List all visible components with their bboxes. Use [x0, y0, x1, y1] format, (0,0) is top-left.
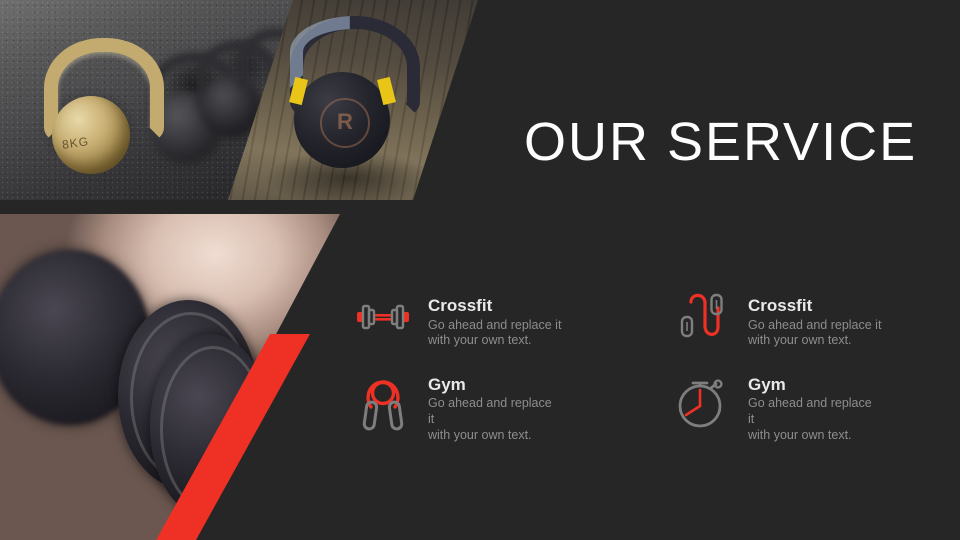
service-title: Gym [748, 375, 872, 395]
service-description: Go ahead and replace it with your own te… [428, 318, 561, 349]
service-title: Crossfit [748, 296, 881, 316]
hand-grip-icon [352, 371, 414, 433]
gold-kettlebell-ball [52, 96, 130, 174]
slide-canvas: 8KG R OUR SERVICE [0, 0, 960, 540]
service-title: Crossfit [428, 296, 561, 316]
service-item-gym-stopwatch[interactable]: Gym Go ahead and replace it with your ow… [672, 371, 944, 443]
service-text-block: Gym Go ahead and replace it with your ow… [748, 371, 872, 443]
photo-barbell-lift-image [0, 214, 340, 540]
jump-rope-icon [672, 286, 734, 348]
service-item-crossfit-dumbbell[interactable]: Crossfit Go ahead and replace it with yo… [352, 286, 624, 349]
service-text-block: Crossfit Go ahead and replace it with yo… [748, 286, 881, 349]
service-text-block: Crossfit Go ahead and replace it with yo… [428, 286, 561, 349]
service-text-block: Gym Go ahead and replace it with your ow… [428, 371, 552, 443]
page-title: OUR SERVICE [524, 111, 917, 173]
dumbbell-icon [352, 286, 414, 348]
dark-kettlebell-logo: R [320, 98, 370, 148]
service-item-crossfit-rope[interactable]: Crossfit Go ahead and replace it with yo… [672, 286, 944, 349]
stopwatch-icon [672, 371, 734, 433]
service-title: Gym [428, 375, 552, 395]
services-grid: Crossfit Go ahead and replace it with yo… [352, 286, 944, 443]
service-item-gym-handgrip[interactable]: Gym Go ahead and replace it with your ow… [352, 371, 624, 443]
service-description: Go ahead and replace it with your own te… [748, 318, 881, 349]
service-description: Go ahead and replace it with your own te… [748, 396, 872, 443]
service-description: Go ahead and replace it with your own te… [428, 396, 552, 443]
photo-barbell-lift [0, 214, 340, 540]
